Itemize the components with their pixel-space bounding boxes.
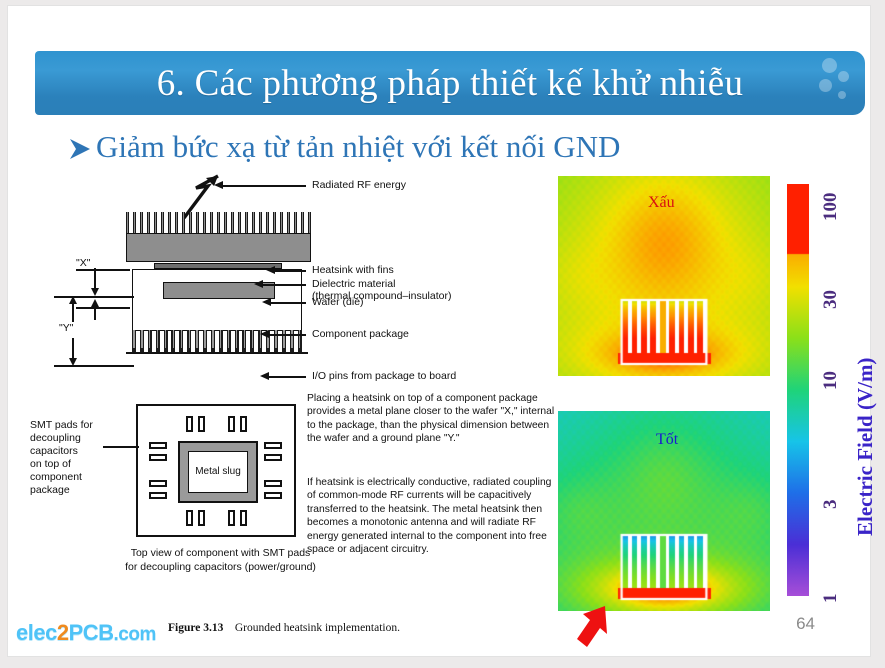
heatsink-fins xyxy=(126,212,311,234)
slide-subtitle: Giảm bức xạ từ tản nhiệt với kết nối GND xyxy=(68,129,620,165)
colorbar-tick-3: 3 xyxy=(820,500,842,510)
label-dimension-x: "X" xyxy=(76,257,90,269)
label-io-pins: I/O pins from package to board xyxy=(312,370,456,382)
colorbar-title: Electric Field (V/m) xyxy=(853,358,878,536)
colorbar xyxy=(787,184,809,596)
leader-smt-pads xyxy=(103,446,139,448)
arrow-radiated xyxy=(214,181,223,189)
figure-paragraph-1: Placing a heatsink on top of a component… xyxy=(307,392,559,446)
figure-paragraph-2: If heatsink is electrically conductive, … xyxy=(307,476,559,556)
arrow-io-pins xyxy=(260,372,269,380)
label-component-package: Component package xyxy=(312,328,409,340)
book-figure: Radiated RF energy xyxy=(18,174,563,636)
metal-slug-inner: Metal slug xyxy=(188,451,248,493)
simulation-label-good: Tốt xyxy=(656,431,678,449)
page-number: 64 xyxy=(796,614,815,634)
label-dielectric-material: Dielectric material xyxy=(312,278,395,290)
dim-y-line-bottom xyxy=(72,338,74,360)
arrow-wafer xyxy=(262,298,271,306)
label-wafer-die: Wafer (die) xyxy=(312,296,364,308)
dim-y-tick-bottom xyxy=(54,365,134,367)
dim-x-tick-top xyxy=(76,269,130,271)
dim-x-arrow-down xyxy=(91,288,99,296)
metal-slug-outer: Metal slug xyxy=(178,441,258,503)
leader-package xyxy=(268,334,306,336)
watermark-logo: elec2PCB.com xyxy=(16,620,156,646)
leader-dielectric xyxy=(262,284,306,286)
smt-top-view: Metal slug xyxy=(136,404,296,537)
slide-page: 6. Các phương pháp thiết kế khử nhiễu Gi… xyxy=(8,6,870,656)
top-view-caption: Top view of component with SMT pads for … xyxy=(78,546,363,574)
label-radiated-rf-energy: Radiated RF energy xyxy=(312,179,406,191)
colorbar-tick-30: 30 xyxy=(820,290,842,309)
leader-wafer xyxy=(270,302,306,304)
label-metal-slug: Metal slug xyxy=(195,466,241,478)
board-ground-line xyxy=(126,352,308,354)
figure-caption-number: Figure 3.13 xyxy=(168,622,223,634)
label-heatsink-with-fins: Heatsink with fins xyxy=(312,264,394,276)
watermark-domain: .com xyxy=(114,624,156,645)
dim-y-line-top xyxy=(72,302,74,322)
dim-x-tick-bottom xyxy=(76,307,130,309)
arrow-package xyxy=(260,330,269,338)
leader-io-pins xyxy=(268,376,306,378)
arrow-bullet-icon xyxy=(68,136,92,162)
arrow-heatsink xyxy=(266,266,275,274)
slide-canvas: 6. Các phương pháp thiết kế khử nhiễu Gi… xyxy=(0,0,885,668)
heatsink-body xyxy=(126,233,311,262)
leader-line-radiated xyxy=(220,185,306,187)
arrow-dielectric xyxy=(254,280,263,288)
component-package-body xyxy=(132,269,302,331)
simulation-panel-good: Tốt xyxy=(558,411,770,611)
simulation-label-bad: Xấu xyxy=(648,194,675,212)
label-dimension-y: "Y" xyxy=(59,322,73,334)
watermark-suffix: PCB xyxy=(69,620,114,645)
slide-title: 6. Các phương pháp thiết kế khử nhiễu xyxy=(35,51,865,115)
slide-subtitle-text: Giảm bức xạ từ tản nhiệt với kết nối GND xyxy=(96,129,620,165)
dim-y-tick-top xyxy=(54,296,134,298)
figure-caption-text: Grounded heatsink implementation. xyxy=(235,622,400,634)
watermark-two: 2 xyxy=(57,620,69,645)
simulation-panel-bad: Xấu xyxy=(558,176,770,376)
slide-title-bar: 6. Các phương pháp thiết kế khử nhiễu xyxy=(35,51,865,115)
watermark-prefix: elec xyxy=(16,620,57,645)
red-arrow-annotation-icon xyxy=(575,606,623,650)
colorbar-tick-10: 10 xyxy=(820,371,842,390)
figure-caption: Figure 3.13 Grounded heatsink implementa… xyxy=(168,622,400,634)
label-smt-pads: SMT pads for decoupling capacitors on to… xyxy=(30,419,93,497)
heatsink-assembly xyxy=(126,212,311,382)
colorbar-tick-100: 100 xyxy=(820,193,842,222)
colorbar-tick-1: 1 xyxy=(820,594,842,604)
leader-heatsink xyxy=(274,270,306,272)
